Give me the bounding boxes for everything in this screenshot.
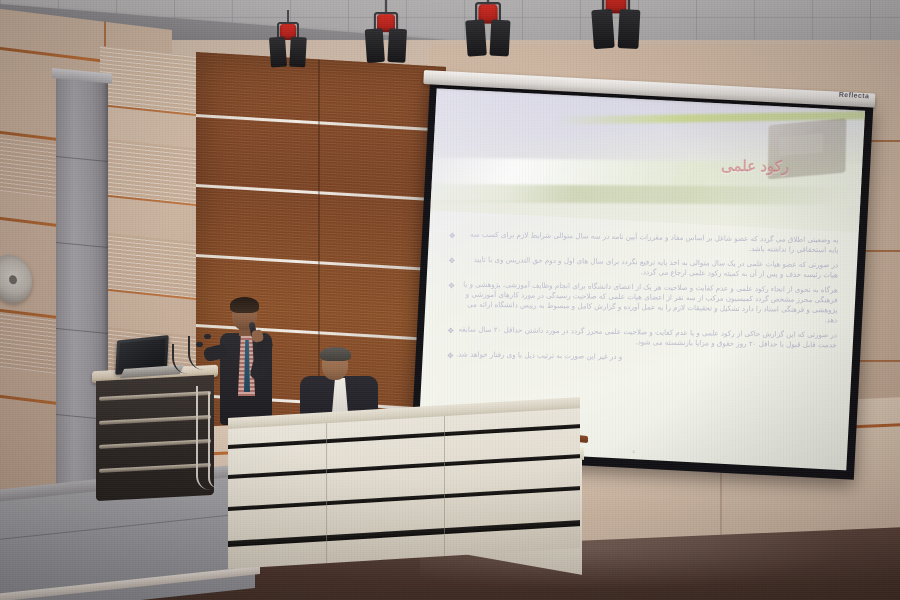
slide-bullet-text: به وضعیتی اطلاق می گردد که عضو شاغل بر ا… bbox=[458, 230, 839, 256]
microphone-icon bbox=[204, 334, 211, 339]
slide-bullet-text: هرگاه به نحوی از انحاء رکود علمی و عدم ک… bbox=[457, 280, 838, 326]
light-barndoor bbox=[591, 9, 614, 49]
light-barndoor bbox=[618, 9, 641, 49]
presenter-hair bbox=[230, 297, 259, 313]
panelist-hair bbox=[320, 347, 351, 361]
slide-bullet-item: ❖ و در غیر این صورت به ترتیب ذیل با وی ر… bbox=[442, 349, 837, 366]
diamond-bullet-icon: ❖ bbox=[448, 232, 456, 240]
diamond-bullet-icon: ❖ bbox=[446, 352, 454, 360]
slide-bullet-item: ❖ به وضعیتی اطلاق می گردد که عضو شاغل بر… bbox=[444, 229, 839, 255]
slide-bullet-item: ❖ در صورتی که این گزارش حاکی از رکود علم… bbox=[442, 324, 837, 350]
panel-desk bbox=[228, 418, 580, 566]
screen-brand-label: Reflecta bbox=[839, 92, 870, 101]
slide-bullet-text: و در غیر این صورت به ترتیب ذیل با وی رفت… bbox=[456, 350, 622, 363]
desk-front-panels bbox=[228, 408, 580, 569]
slide-bullet-text: در صورتی که این گزارش حاکی از رکود علمی … bbox=[456, 325, 837, 351]
diamond-bullet-icon: ❖ bbox=[447, 282, 455, 290]
slide-bullet-item: ❖ در صورتی که عضو هیات علمی در یک سال مت… bbox=[443, 254, 838, 280]
diamond-bullet-icon: ❖ bbox=[446, 327, 454, 335]
slide-page-number: ۵ bbox=[632, 449, 635, 455]
light-barndoor bbox=[269, 36, 287, 67]
slide-swoosh-secondary bbox=[418, 184, 865, 205]
conference-hall-photo: Reflecta رکود علمی ❖ به وضعیتی اطلاق می … bbox=[0, 0, 900, 600]
slide-bullet-item: ❖ هرگاه به نحوی از انحاء رکود علمی و عدم… bbox=[443, 279, 838, 325]
light-barndoor bbox=[489, 20, 510, 57]
light-barndoor bbox=[465, 19, 487, 56]
slide-bullet-list: ❖ به وضعیتی اطلاق می گردد که عضو شاغل بر… bbox=[442, 229, 839, 371]
light-barndoor bbox=[365, 28, 385, 63]
slide-bullet-text: در صورتی که عضو هیات علمی در یک سال متوا… bbox=[457, 255, 838, 281]
light-barndoor bbox=[289, 37, 307, 68]
light-barndoor bbox=[387, 28, 407, 62]
slide-title: رکود علمی bbox=[721, 157, 789, 176]
diamond-bullet-icon: ❖ bbox=[448, 257, 456, 265]
